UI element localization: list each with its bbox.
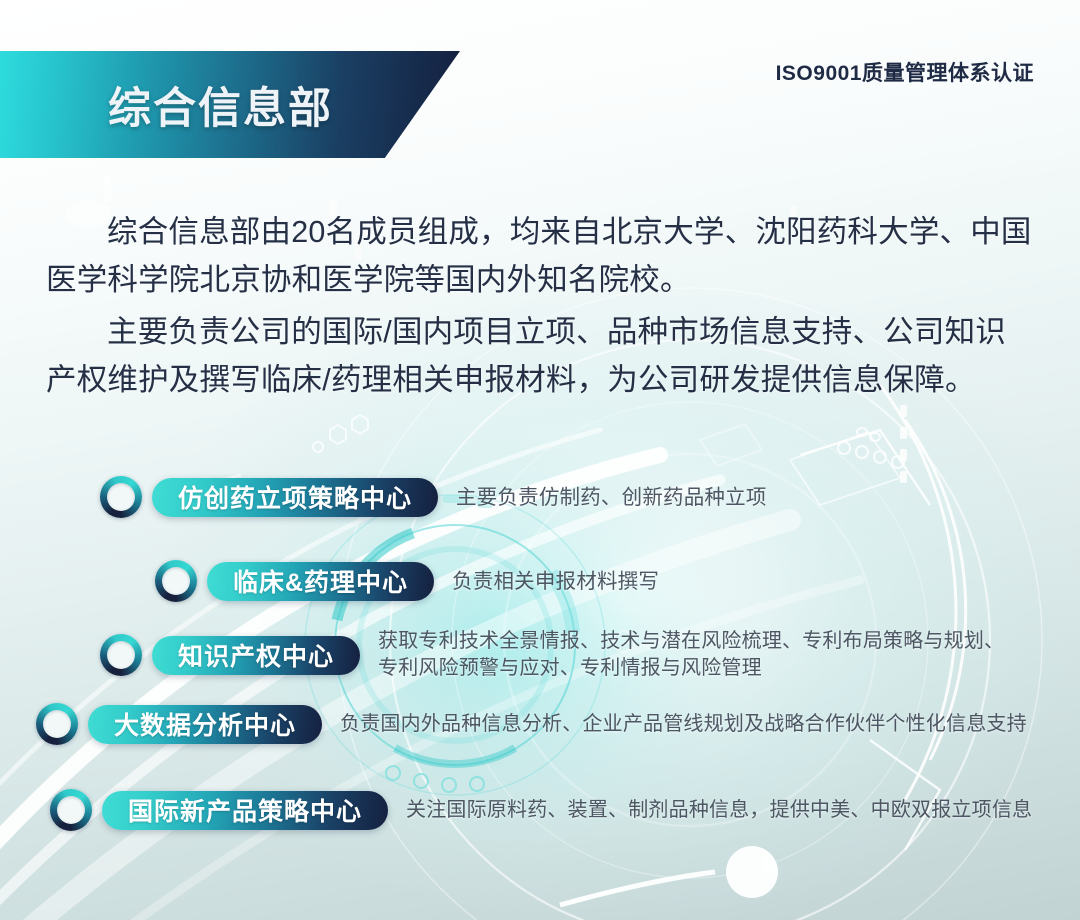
center-description-5: 关注国际原料药、装置、制剂品种信息，提供中美、中欧双报立项信息 [406, 797, 1032, 824]
center-row-1: 仿创药立项策略中心 主要负责仿制药、创新药品种立项 [100, 476, 767, 518]
center-row-4: 大数据分析中心 负责国内外品种信息分析、企业产品管线规划及战略合作伙伴个性化信息… [36, 703, 1027, 745]
center-row-5: 国际新产品策略中心 关注国际原料药、装置、制剂品种信息，提供中美、中欧双报立项信… [50, 789, 1032, 831]
center-name-badge-1: 仿创药立项策略中心 [152, 478, 438, 517]
centers-list: 仿创药立项策略中心 主要负责仿制药、创新药品种立项 临床&药理中心 负责相关申报… [0, 0, 1080, 920]
circle-ring-icon [100, 634, 142, 676]
center-row-2: 临床&药理中心 负责相关申报材料撰写 [155, 560, 659, 602]
circle-ring-icon [100, 476, 142, 518]
center-description-1: 主要负责仿制药、创新药品种立项 [456, 484, 767, 511]
center-description-4: 负责国内外品种信息分析、企业产品管线规划及战略合作伙伴个性化信息支持 [340, 711, 1027, 738]
poster-canvas: 综合信息部 ISO9001质量管理体系认证 综合信息部由20名成员组成，均来自北… [0, 0, 1080, 920]
center-name-badge-3: 知识产权中心 [152, 636, 360, 675]
center-description-3: 获取专利技术全景情报、技术与潜在风险梳理、专利布局策略与规划、 专利风险预警与应… [378, 628, 1004, 682]
center-name-badge-5: 国际新产品策略中心 [102, 791, 388, 830]
circle-ring-icon [36, 703, 78, 745]
center-name-badge-2: 临床&药理中心 [207, 562, 434, 601]
center-description-2: 负责相关申报材料撰写 [452, 568, 659, 595]
center-row-3: 知识产权中心 获取专利技术全景情报、技术与潜在风险梳理、专利布局策略与规划、 专… [100, 628, 1004, 682]
center-name-badge-4: 大数据分析中心 [88, 705, 322, 744]
circle-ring-icon [155, 560, 197, 602]
circle-ring-icon [50, 789, 92, 831]
